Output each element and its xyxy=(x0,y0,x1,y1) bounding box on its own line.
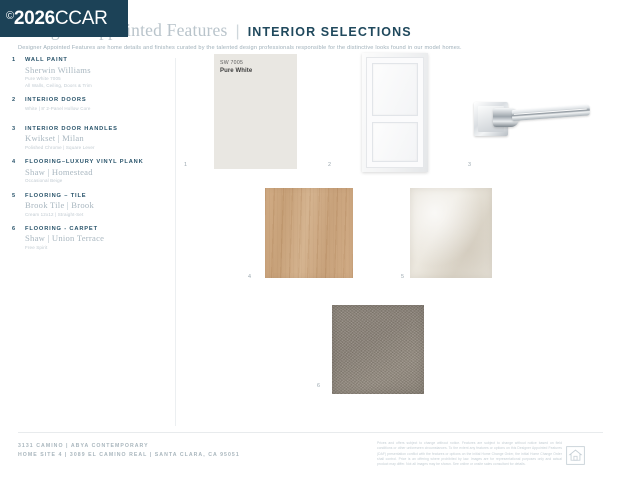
equal-housing-opportunity-icon xyxy=(566,446,585,465)
footer-line-2: HOME SITE 4 | 3089 EL CAMINO REAL | SANT… xyxy=(18,451,240,460)
swatch-luxury-vinyl-plank xyxy=(265,188,353,278)
interior-selections-page: ©2026CCAR Designer Appointed Features | … xyxy=(0,0,621,480)
copyright-symbol: © xyxy=(6,10,14,22)
watermark-org: CCAR xyxy=(55,8,108,29)
door-slab xyxy=(366,57,424,168)
tile-texture xyxy=(410,188,492,278)
swatch-tile xyxy=(410,188,492,278)
swatch-number-2: 2 xyxy=(328,162,331,168)
swatch-number-6: 6 xyxy=(317,383,320,389)
swatch-grid: SW 7005 Pure White 1 2 3 4 xyxy=(0,0,621,480)
door-frame xyxy=(362,53,428,172)
footer-divider xyxy=(18,432,603,433)
handle-lever xyxy=(512,104,591,121)
swatch-carpet xyxy=(332,305,424,394)
paint-name: Pure White xyxy=(220,68,252,74)
footer-address: 3131 CAMINO | ABYA CONTEMPORARY HOME SIT… xyxy=(18,442,240,460)
carpet-texture xyxy=(332,305,424,394)
door-panel-top xyxy=(372,63,418,116)
door-panel-bottom xyxy=(372,122,418,162)
disclaimer-text: Prices and offers subject to change with… xyxy=(377,441,562,468)
swatch-door-handle xyxy=(474,96,590,148)
paint-code: SW 7005 xyxy=(220,60,243,66)
swatch-number-4: 4 xyxy=(248,274,251,280)
swatch-number-1: 1 xyxy=(184,162,187,168)
footer-legal: Prices and offers subject to change with… xyxy=(377,441,562,468)
swatch-interior-door xyxy=(362,53,428,172)
footer-line-1: 3131 CAMINO | ABYA CONTEMPORARY xyxy=(18,442,240,451)
swatch-number-5: 5 xyxy=(401,274,404,280)
vinyl-plank-texture xyxy=(265,188,353,278)
watermark-year: 2026 xyxy=(14,8,55,29)
swatch-number-3: 3 xyxy=(468,162,471,168)
copyright-watermark: ©2026CCAR xyxy=(0,0,128,37)
swatch-paint-chip: SW 7005 Pure White xyxy=(214,54,297,169)
